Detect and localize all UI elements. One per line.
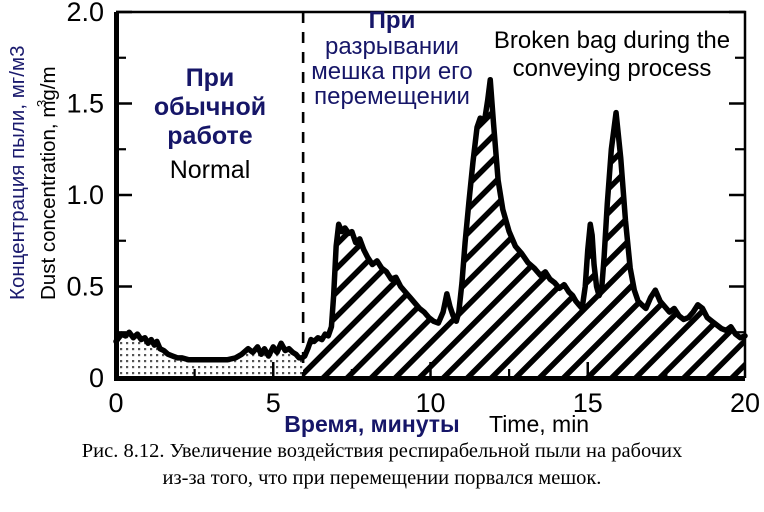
figure-caption-line1: Рис. 8.12. Увеличение воздействия респир… bbox=[0, 438, 764, 465]
annotation-normal-ru-line2: обычной bbox=[154, 93, 266, 121]
annotation-normal-ru-line3: работе bbox=[167, 122, 253, 150]
y-tick-label: 0.5 bbox=[66, 272, 104, 302]
x-axis-label-en: Time, min bbox=[489, 411, 589, 437]
x-axis-label-ru: Время, минуты bbox=[284, 411, 459, 437]
y-tick-label: 0 bbox=[89, 363, 104, 393]
annotation-brokenbag-en-line2: conveying process bbox=[513, 55, 712, 82]
annotation-normal-ru-line1: При bbox=[186, 64, 235, 92]
y-tick-label: 1.0 bbox=[66, 180, 104, 210]
x-tick-label: 20 bbox=[730, 388, 760, 418]
annotation-bagtear-ru-line4: перемещении bbox=[314, 83, 470, 110]
annotation-normal-en: Normal bbox=[170, 156, 251, 184]
dust-concentration-chart: 00.51.01.52.005101520 Концентрация пыли,… bbox=[0, 0, 764, 440]
figure-caption-line2: из-за того, что при перемещении порвался… bbox=[0, 465, 764, 492]
annotation-bagtear-ru-line2: разрывании bbox=[325, 33, 459, 60]
annotation-bagtear-ru-line3: мешка при его bbox=[311, 58, 472, 85]
y-tick-label: 1.5 bbox=[66, 89, 104, 119]
annotation-brokenbag-en-line1: Broken bag during the bbox=[494, 27, 730, 54]
y-tick-label: 2.0 bbox=[66, 0, 104, 27]
y-axis-label-ru: Концентрация пыли, мг/м3 bbox=[6, 46, 29, 300]
x-tick-label: 0 bbox=[108, 388, 123, 418]
annotation-broken-bag-en: Broken bag during the conveying process bbox=[494, 27, 730, 82]
y-axis-label-en-superscript: 3 bbox=[34, 100, 49, 107]
figure-caption: Рис. 8.12. Увеличение воздействия респир… bbox=[0, 438, 764, 491]
annotation-bagtear-ru-line1: При bbox=[369, 7, 416, 34]
x-tick-label: 5 bbox=[266, 388, 281, 418]
y-axis-label-en-group: Dust concentration, mg/m 3 bbox=[34, 66, 60, 300]
